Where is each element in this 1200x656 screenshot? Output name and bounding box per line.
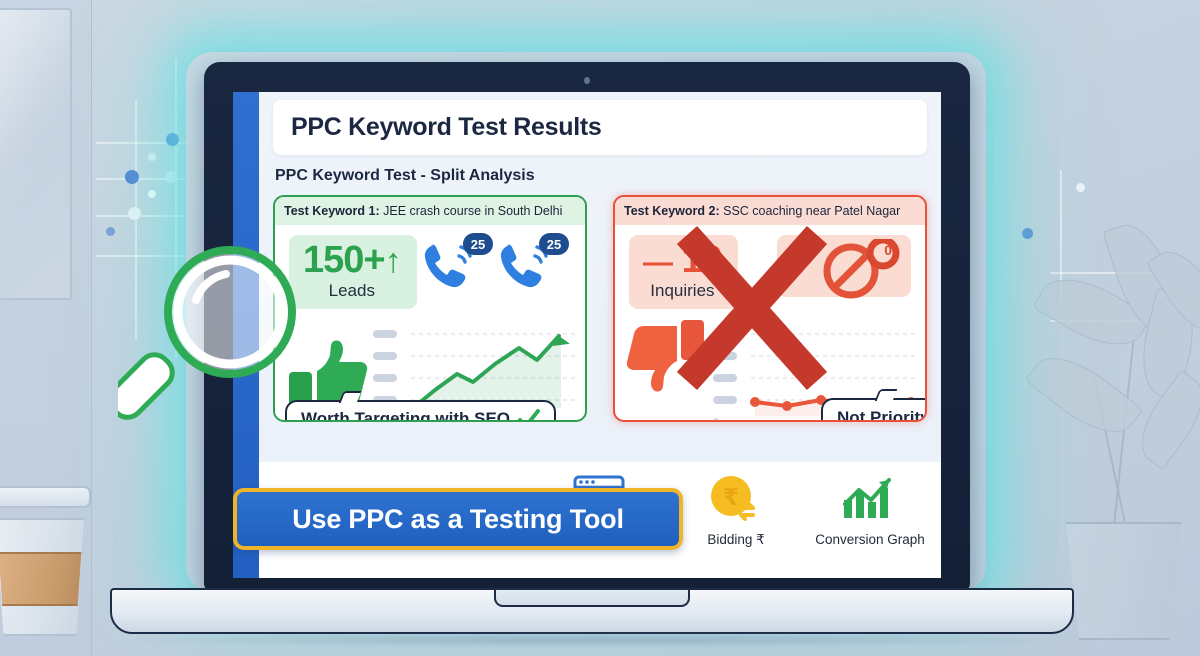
callout-worth-targeting[interactable]: Worth Targeting with SEO	[285, 400, 556, 422]
decor-dot	[125, 170, 139, 184]
bottom-bar: Analytics ₹ Bidding ₹	[259, 462, 941, 578]
laptop-lid: PPC Keyword Test Results PPC Keyword Tes…	[204, 62, 970, 590]
decor-dot	[106, 227, 115, 236]
wall-picture-frame	[0, 8, 72, 300]
panel-1-header: Test Keyword 1: JEE crash course in Sout…	[275, 197, 585, 225]
panel-1-head-label: Test Keyword 1:	[284, 204, 380, 218]
callout-1-text: Worth Targeting with SEO	[301, 409, 510, 422]
blocked-count-badge: 0	[884, 242, 892, 258]
decor-gridline	[96, 215, 186, 217]
cta-label: Use PPC as a Testing Tool	[292, 504, 624, 535]
feature-bidding-label: Bidding ₹	[681, 532, 791, 548]
decor-dot	[166, 133, 179, 146]
page-title: PPC Keyword Test Results	[291, 113, 909, 142]
feature-bidding[interactable]: ₹ Bidding ₹	[681, 474, 791, 548]
section-subtitle: PPC Keyword Test - Split Analysis	[275, 167, 927, 185]
conversion-graph-icon	[841, 474, 899, 524]
laptop-base-notch	[494, 590, 690, 607]
leads-metric-label: Leads	[303, 281, 401, 301]
webcam-dot	[584, 77, 590, 84]
app-titlebar: PPC Keyword Test Results	[273, 100, 927, 155]
leads-metric-chip: 150+↑ Leads	[289, 235, 417, 309]
call-count-badge: 25	[539, 233, 569, 255]
call-icons-group: 25 25	[419, 229, 579, 307]
illustration-scene: PPC Keyword Test Results PPC Keyword Tes…	[0, 0, 1200, 656]
magnifying-glass-icon	[118, 238, 308, 428]
panel-1-head-value: JEE crash course in South Delhi	[383, 204, 562, 218]
laptop-base	[110, 588, 1074, 634]
green-check-icon	[518, 409, 540, 422]
panel-2-head-value: SSC coaching near Patel Nagar	[723, 204, 900, 218]
laptop-shadow	[130, 632, 1060, 648]
bidding-rupee-icon: ₹	[707, 474, 765, 524]
decor-dot	[128, 207, 141, 220]
feature-conversion-label: Conversion Graph	[815, 532, 925, 547]
callout-2-text: Not Priority for SEO	[837, 408, 927, 422]
panel-keyword-2[interactable]: Test Keyword 2: SSC coaching near Patel …	[613, 195, 927, 422]
svg-text:₹: ₹	[723, 485, 739, 511]
feature-conversion-graph[interactable]: Conversion Graph	[815, 474, 925, 548]
coffee-cup	[0, 486, 88, 636]
potted-plant	[1030, 220, 1200, 640]
panel-2-head-label: Test Keyword 2:	[624, 204, 720, 218]
up-arrow-icon: ↑	[385, 242, 401, 280]
leads-metric-value: 150+↑	[303, 241, 401, 279]
callout-not-priority[interactable]: Not Priority for SEO	[821, 398, 927, 422]
decor-dot	[148, 153, 156, 161]
panels-row: Test Keyword 1: JEE crash course in Sout…	[273, 195, 927, 422]
cta-button[interactable]: Use PPC as a Testing Tool	[233, 488, 683, 550]
red-cross-icon	[667, 221, 839, 401]
panel-1-body: 150+↑ Leads 25	[275, 225, 585, 420]
laptop-screen: PPC Keyword Test Results PPC Keyword Tes…	[233, 92, 941, 578]
decor-dot	[165, 171, 177, 183]
call-count-badge: 25	[463, 233, 493, 255]
panel-2-body: — 10 Inquiries	[615, 225, 925, 420]
decor-dot	[1076, 183, 1085, 192]
panel-keyword-1[interactable]: Test Keyword 1: JEE crash course in Sout…	[273, 195, 587, 422]
decor-dot	[148, 190, 156, 198]
